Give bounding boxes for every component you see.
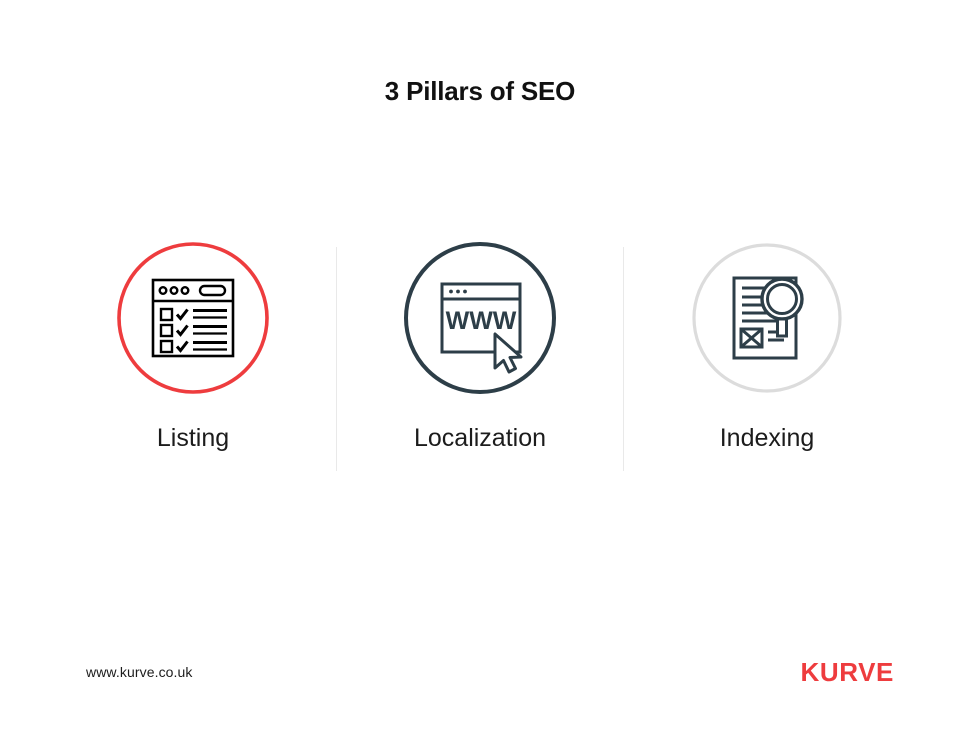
- checklist-browser-icon: [115, 240, 271, 396]
- pillar-label-listing: Listing: [157, 423, 229, 453]
- pillars-row: Listing WWW: [50, 240, 910, 490]
- kurve-logo: KURVE: [800, 657, 894, 688]
- pillar-listing[interactable]: Listing: [50, 240, 336, 453]
- pillar-localization[interactable]: WWW Localization: [337, 240, 623, 453]
- page-title: 3 Pillars of SEO: [0, 74, 960, 108]
- footer-website-url[interactable]: www.kurve.co.uk: [86, 664, 193, 680]
- pillar-indexing[interactable]: Indexing: [624, 240, 910, 453]
- indexing-icon-circle: [689, 240, 845, 396]
- www-label: WWW: [446, 307, 517, 335]
- listing-icon-circle: [115, 240, 271, 396]
- slide-canvas: 3 Pillars of SEO: [0, 0, 960, 750]
- document-magnifier-icon: [689, 240, 845, 396]
- pillar-label-indexing: Indexing: [720, 423, 815, 453]
- www-browser-cursor-icon: WWW: [402, 240, 558, 396]
- localization-icon-circle: WWW: [402, 240, 558, 396]
- pillar-label-localization: Localization: [414, 423, 546, 453]
- cursor-arrow-icon: [495, 334, 521, 372]
